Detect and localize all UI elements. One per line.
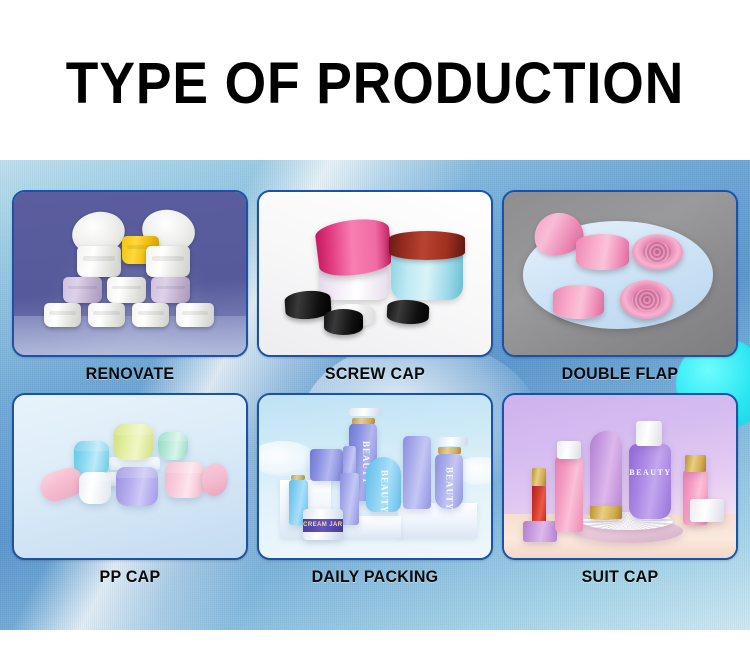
lid-brown <box>389 231 466 260</box>
beauty-label-lilac: BEAUTY <box>445 467 455 511</box>
cream-jar-label: CREAM JAR <box>303 519 342 532</box>
cell-label-double-flap: DOUBLE FLAP <box>509 357 731 391</box>
page-title: TYPE OF PRODUCTION <box>30 54 720 114</box>
product-card-suit-cap[interactable]: BEAUTY <box>502 393 738 560</box>
pump-head-lilac <box>438 437 468 445</box>
beauty-label-suit: BEAUTY <box>629 468 671 477</box>
cap-white-mid <box>107 277 146 303</box>
bottle-mist-center <box>340 473 359 525</box>
product-card-double-flap[interactable] <box>502 190 738 357</box>
jar-white-right <box>690 499 725 522</box>
pump-head-purple <box>636 421 662 445</box>
cap-white-bottom-3 <box>132 303 169 327</box>
beauty-label-lightblue: BEAUTY <box>380 470 390 514</box>
cap-white-bottom-2 <box>88 303 125 327</box>
product-card-screw-cap[interactable] <box>257 190 493 357</box>
dropper-gold-collar <box>685 455 706 471</box>
cell-label-pp-cap: PP CAP <box>19 560 241 594</box>
gold-collar-lilac <box>438 447 461 454</box>
cap-pink-open-body <box>576 234 629 270</box>
bottle-pump-purple <box>629 444 671 519</box>
pump-head-periwinkle <box>349 408 381 416</box>
cell-label-screw-cap: SCREW CAP <box>264 357 486 391</box>
jar-purple <box>116 467 158 506</box>
cap-white-top-left <box>77 246 121 277</box>
bottle-cylinder-lilac <box>403 436 431 509</box>
cell-label-suit-cap: SUIT CAP <box>509 560 731 594</box>
cap-black-center <box>324 309 363 335</box>
gold-collar-mist-left <box>291 475 305 480</box>
product-card-renovate[interactable] <box>12 190 248 357</box>
tube-gold-base <box>590 506 622 519</box>
jar-white <box>79 472 111 505</box>
product-grid-panel: RENOVATE SCREW CAP <box>0 160 750 630</box>
jar-pink <box>165 462 204 498</box>
cap-purple-mid-right <box>151 277 190 303</box>
renovate-image <box>14 192 246 355</box>
title-band: TYPE OF PRODUCTION <box>0 0 750 160</box>
slide-root: TYPE OF PRODUCTION <box>0 0 750 662</box>
grid-cell-screw-cap[interactable]: SCREW CAP <box>257 190 493 391</box>
cap-black-right <box>386 299 429 326</box>
pp-cap-image <box>14 395 246 558</box>
bottle-mist-pink <box>555 457 583 532</box>
product-card-pp-cap[interactable] <box>12 393 248 560</box>
grid-cell-double-flap[interactable]: DOUBLE FLAP <box>502 190 738 391</box>
cap-purple-mid-left <box>63 277 102 303</box>
cap-mist-pink <box>557 441 580 459</box>
jar-mint <box>158 432 188 460</box>
jar-yellow <box>114 424 153 460</box>
grid-cell-daily-packing[interactable]: BEAUTY BEAUTY BEAUTY <box>257 393 493 594</box>
jar-small-mauve <box>523 521 558 542</box>
cap-white-top-right <box>146 246 190 277</box>
gold-collar-periwinkle <box>352 418 375 425</box>
double-flap-image <box>504 192 736 355</box>
cell-label-daily-packing: DAILY PACKING <box>264 560 486 594</box>
product-card-daily-packing[interactable]: BEAUTY BEAUTY BEAUTY <box>257 393 493 560</box>
cap-pink-thread-upper <box>632 234 683 270</box>
cap-pink-closed <box>553 285 604 319</box>
screw-cap-image <box>259 192 491 355</box>
tube-squeeze-purple <box>590 431 622 516</box>
jar-square-periwinkle <box>310 449 342 482</box>
lipgloss-cap <box>532 468 546 486</box>
suit-cap-image: BEAUTY <box>504 395 736 558</box>
daily-packing-image: BEAUTY BEAUTY BEAUTY <box>259 395 491 558</box>
cell-label-renovate: RENOVATE <box>19 357 241 391</box>
jar-pink-lid-leaning <box>200 462 230 498</box>
cloud-left <box>259 441 315 477</box>
product-grid: RENOVATE SCREW CAP <box>0 160 750 630</box>
bottom-white-band <box>0 630 750 662</box>
grid-cell-pp-cap[interactable]: PP CAP <box>12 393 248 594</box>
cap-white-bottom-4 <box>176 303 213 327</box>
cap-white-bottom-1 <box>44 303 81 327</box>
grid-cell-renovate[interactable]: RENOVATE <box>12 190 248 391</box>
grid-cell-suit-cap[interactable]: BEAUTY SUIT CAP <box>502 393 738 594</box>
